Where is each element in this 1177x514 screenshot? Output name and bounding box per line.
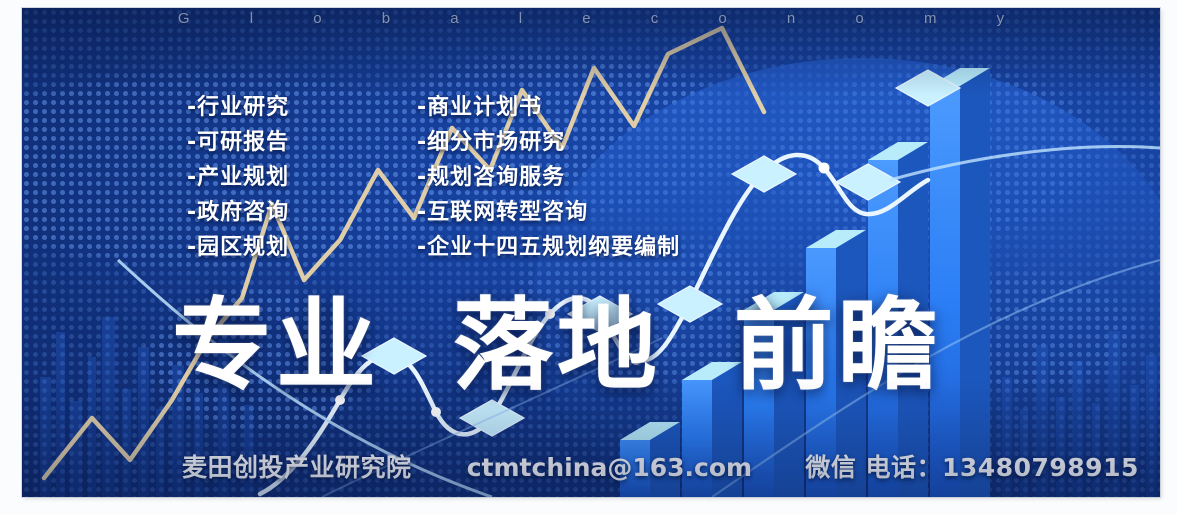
services-column-right: -商业计划书 -细分市场研究 -规划咨询服务 -互联网转型咨询 -企业十四五规划… <box>417 93 680 268</box>
service-item: -园区规划 <box>187 233 289 262</box>
service-item: -互联网转型咨询 <box>417 198 680 227</box>
banner-stage: G l o b a l e c o n o m y -行业研究 -可研报告 -产… <box>0 0 1177 514</box>
service-item: -可研报告 <box>187 128 289 157</box>
service-item: -规划咨询服务 <box>417 163 680 192</box>
contact-bar: 麦田创投产业研究院 ctmtchina@163.com 微信 电话：134807… <box>182 448 1139 484</box>
service-item: -行业研究 <box>187 93 289 122</box>
service-item: -商业计划书 <box>417 93 680 122</box>
promo-banner: G l o b a l e c o n o m y -行业研究 -可研报告 -产… <box>22 8 1160 497</box>
page-title: 专业 落地 前瞻 <box>172 296 942 396</box>
headline-word-2: 落地 <box>453 287 661 404</box>
email-address[interactable]: ctmtchina@163.com <box>467 453 752 482</box>
service-item: -政府咨询 <box>187 198 289 227</box>
headline-word-3: 前瞻 <box>734 287 942 404</box>
organization-name: 麦田创投产业研究院 <box>182 453 412 482</box>
service-item: -产业规划 <box>187 163 289 192</box>
headline-word-1: 专业 <box>172 287 380 404</box>
phone-number[interactable]: 微信 电话：13480798915 <box>805 453 1139 482</box>
service-item: -企业十四五规划纲要编制 <box>417 233 680 262</box>
kicker-global-economy: G l o b a l e c o n o m y <box>22 10 1160 27</box>
bar-6 <box>930 68 990 497</box>
service-item: -细分市场研究 <box>417 128 680 157</box>
services-column-left: -行业研究 -可研报告 -产业规划 -政府咨询 -园区规划 <box>187 93 289 268</box>
